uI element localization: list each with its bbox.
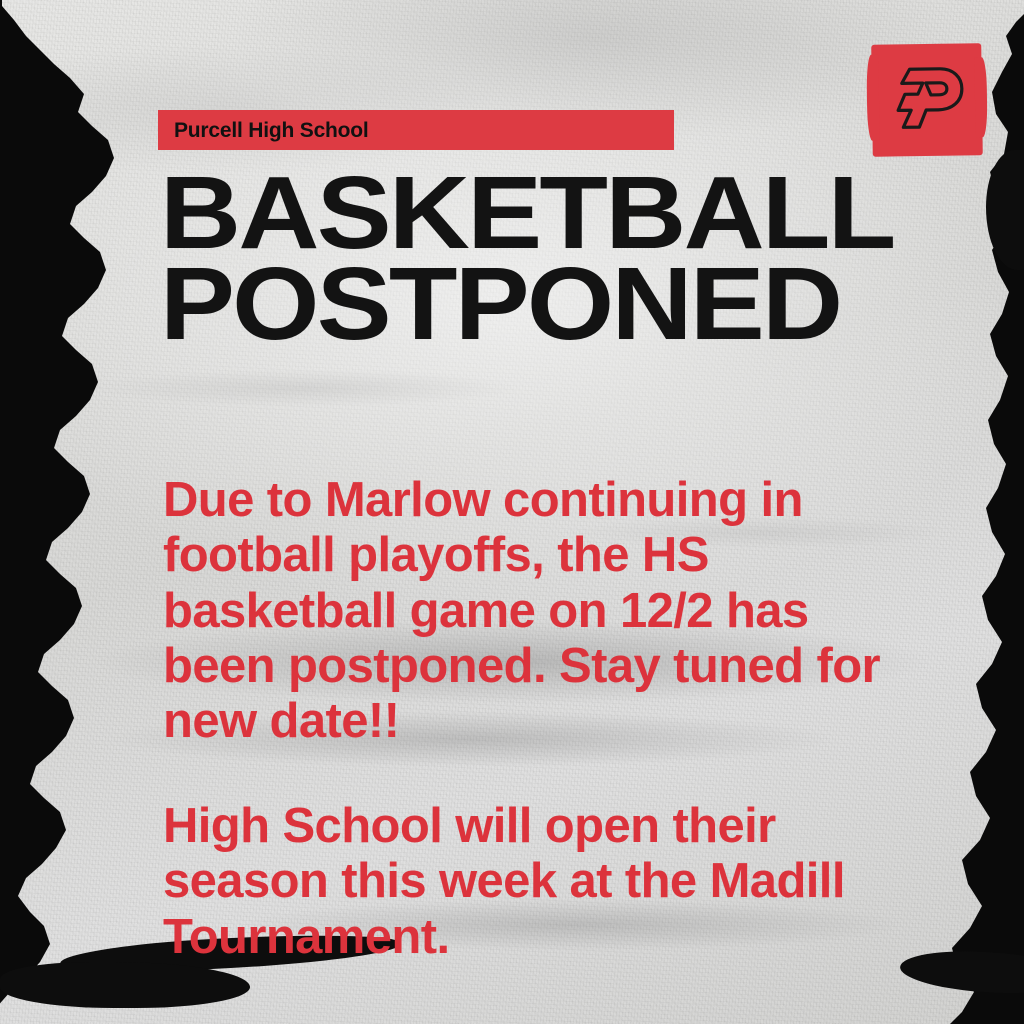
page-title: BASKETBALL POSTPONED: [160, 168, 950, 349]
announcement-paragraph-1: Due to Marlow continuing in football pla…: [163, 473, 923, 750]
announcement-paragraph-2: High School will open their season this …: [163, 799, 923, 965]
poster-content: Purcell High School BASKETBALL POSTPONED…: [0, 0, 1024, 1024]
school-name-label: Purcell High School: [158, 120, 369, 141]
school-logo-badge: [871, 43, 983, 157]
headline-line-2: POSTPONED: [160, 259, 1021, 350]
announcement-body: Due to Marlow continuing in football pla…: [163, 424, 923, 1014]
school-name-banner: Purcell High School: [158, 110, 674, 150]
purcell-p-logo-icon: [887, 60, 966, 140]
poster-canvas: Purcell High School BASKETBALL POSTPONED…: [0, 0, 1024, 1024]
